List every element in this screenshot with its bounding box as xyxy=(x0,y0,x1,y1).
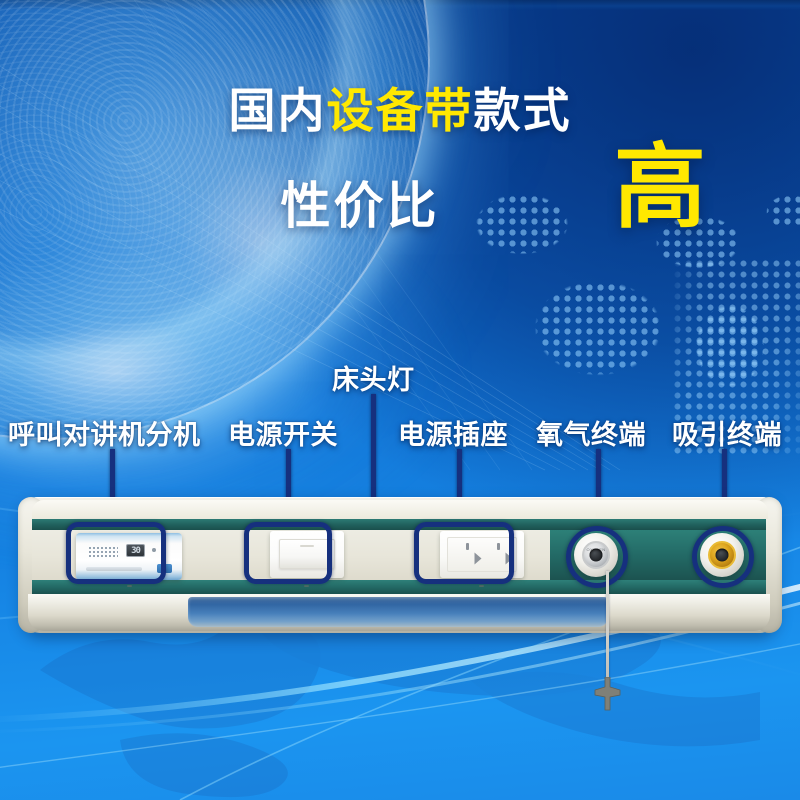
headline-block: 国内设备带款式 xyxy=(0,84,800,138)
callout-label-bed-head-lamp: 床头灯 xyxy=(332,358,415,397)
headline-line1-part3: 款式 xyxy=(474,84,572,137)
headline-line-2: 性价比 xyxy=(281,166,440,238)
highlight-box-nurse-call-intercom xyxy=(66,522,166,584)
callout-label-nurse-call-intercom: 呼叫对讲机分机 xyxy=(8,413,201,452)
headline-emphasis-gao: 高 xyxy=(614,142,706,234)
screw-mark xyxy=(304,585,309,587)
banner-canvas: 国内设备带款式 性价比 高 呼叫对讲机分机 电源开关 床头灯 电源插座 氧气终端… xyxy=(0,0,800,800)
callout-label-oxygen-terminal: 氧气终端 xyxy=(536,413,646,452)
pull-cord xyxy=(606,571,609,683)
callout-label-power-socket: 电源插座 xyxy=(398,413,508,452)
headline-line-1: 国内设备带款式 xyxy=(0,84,800,138)
highlight-circle-suction-terminal xyxy=(692,526,754,588)
unit-top-edge xyxy=(32,500,768,519)
pull-cord-hook-icon xyxy=(594,677,621,711)
unit-blue-light-cover xyxy=(188,597,608,627)
highlight-box-power-switch xyxy=(244,522,332,584)
callout-label-suction-terminal: 吸引终端 xyxy=(672,413,782,452)
headline-line-2-block: 性价比 高 xyxy=(0,158,800,244)
headline-line1-part1: 国内 xyxy=(229,84,327,137)
screw-mark xyxy=(479,585,484,587)
highlight-box-power-socket xyxy=(414,522,514,584)
headline-line1-part2: 设备带 xyxy=(327,84,474,137)
screw-mark xyxy=(127,585,132,587)
highlight-circle-oxygen-terminal xyxy=(566,526,628,588)
callout-label-power-switch: 电源开关 xyxy=(228,413,338,452)
